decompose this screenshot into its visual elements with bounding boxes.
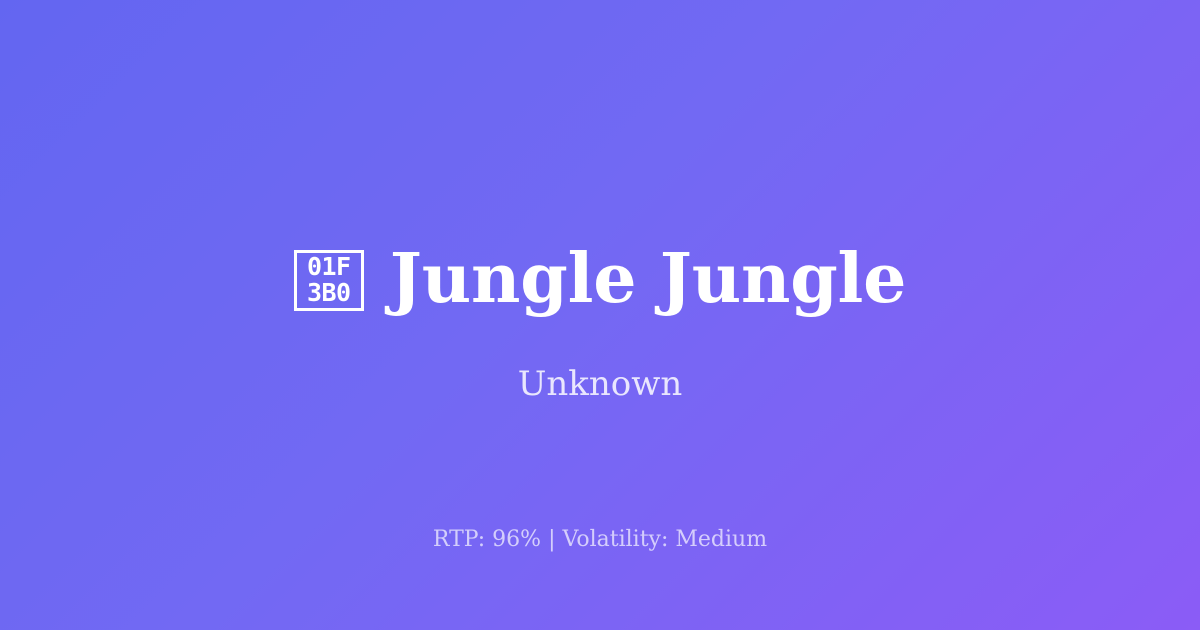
title-row: 01F 3B0 Jungle Jungle xyxy=(0,231,1200,327)
tofu-codepoint-top: 01F xyxy=(307,254,351,280)
provider-name: Unknown xyxy=(0,364,1200,405)
tofu-codepoint-bottom: 3B0 xyxy=(307,280,351,306)
slot-machine-emoji-tofu-icon: 01F 3B0 xyxy=(294,250,364,311)
page-title: Jungle Jungle xyxy=(390,245,906,313)
game-meta-line: RTP: 96% | Volatility: Medium xyxy=(0,527,1200,553)
og-share-card: 01F 3B0 Jungle Jungle Unknown RTP: 96% |… xyxy=(0,0,1200,630)
